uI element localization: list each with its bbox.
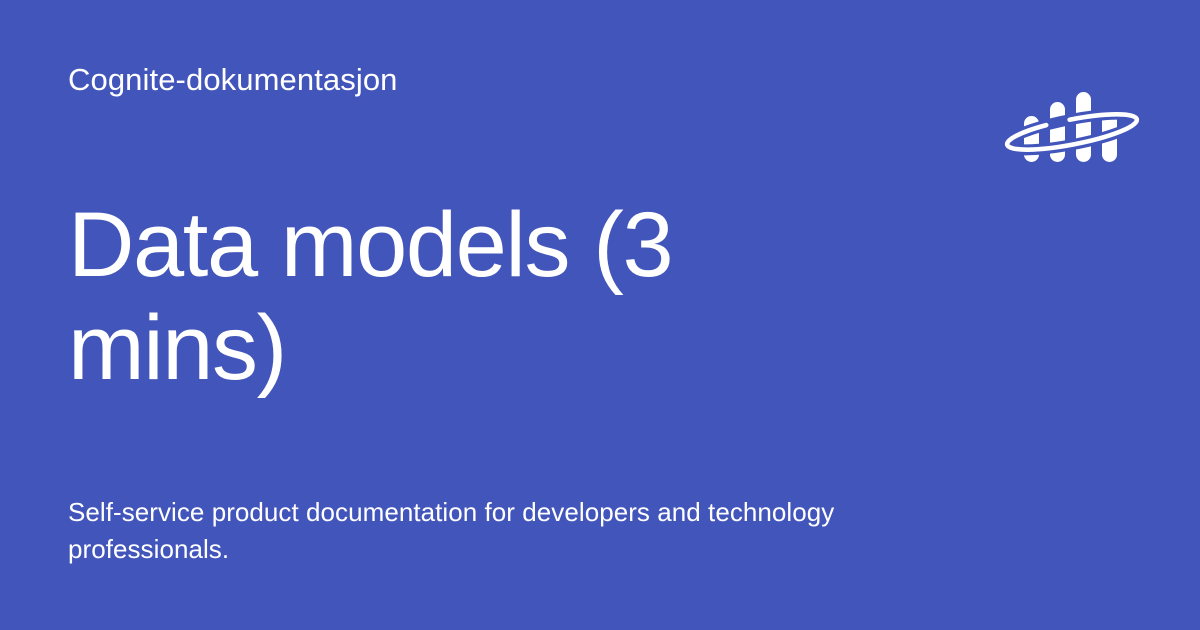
logo-orbit-ring [1005,107,1139,157]
tagline: Self-service product documentation for d… [68,494,848,568]
card-header: Cognite-dokumentasjon [68,62,1132,166]
page-title: Data models (3 mins) [68,166,788,400]
cognite-logo [1002,84,1142,166]
title-region: Data models (3 mins) [68,166,1132,494]
social-card: Cognite-dokumentasjon [0,0,1200,630]
site-name: Cognite-dokumentasjon [68,62,398,98]
